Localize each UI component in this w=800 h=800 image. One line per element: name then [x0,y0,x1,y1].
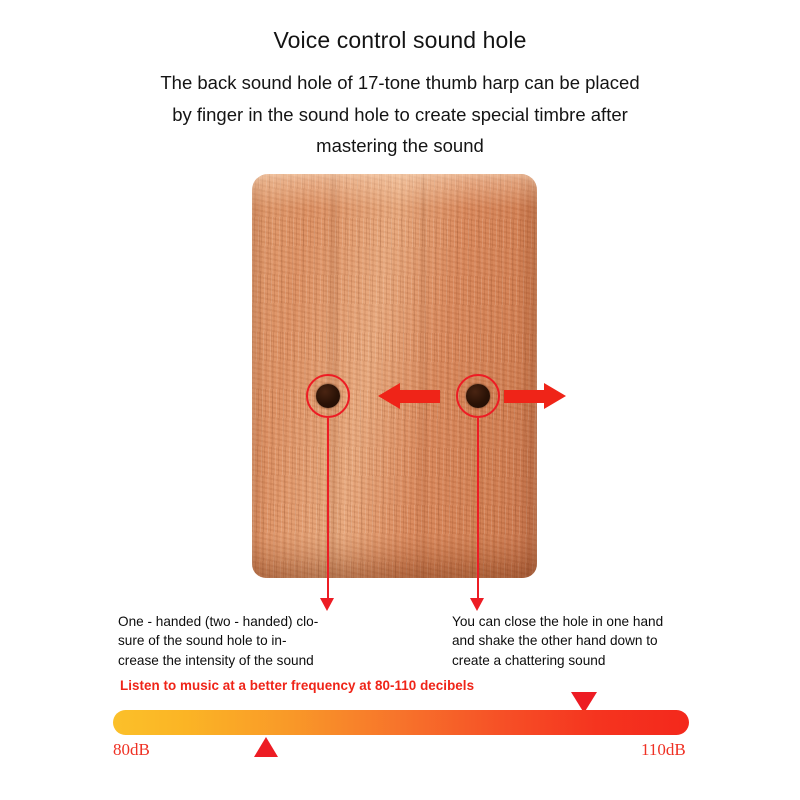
arrow-right-icon [504,390,566,403]
decibel-note: Listen to music at a better frequency at… [120,678,474,693]
caption-left-line-1: One - handed (two - handed) clo- [118,612,358,631]
caption-left-line-3: crease the intensity of the sound [118,651,358,670]
left-leader-line [327,418,329,600]
thumb-harp-back-panel [252,174,537,578]
caption-right-line-3: create a chattering sound [452,651,710,670]
right-sound-hole [466,384,490,408]
right-leader-line [477,418,479,600]
subtitle-line-1: The back sound hole of 17-tone thumb har… [100,67,700,99]
wood-top-highlight [252,174,537,208]
right-leader-arrowhead-icon [470,598,484,611]
arrow-left-icon [378,390,440,403]
page-subtitle: The back sound hole of 17-tone thumb har… [100,67,700,162]
left-sound-hole-ring [306,374,350,418]
decibel-max-label: 110dB [641,740,686,760]
decibel-gradient-bar [113,710,689,735]
caption-right-sound-hole: You can close the hole in one hand and s… [452,612,710,670]
subtitle-line-2: by finger in the sound hole to create sp… [100,99,700,131]
decibel-meter: Listen to music at a better frequency at… [0,678,800,788]
decibel-min-label: 80dB [113,740,150,760]
caption-left-sound-hole: One - handed (two - handed) clo- sure of… [118,612,358,670]
subtitle-line-3: mastering the sound [100,130,700,162]
left-leader-arrowhead-icon [320,598,334,611]
header: Voice control sound hole The back sound … [0,26,800,162]
caption-left-line-2: sure of the sound hole to in- [118,631,358,650]
wood-bottom-shadow [252,536,537,578]
left-sound-hole [316,384,340,408]
decibel-marker-up-icon [254,737,278,757]
caption-right-line-1: You can close the hole in one hand [452,612,710,631]
page-title: Voice control sound hole [0,26,800,55]
caption-right-line-2: and shake the other hand down to [452,631,710,650]
right-sound-hole-ring [456,374,500,418]
